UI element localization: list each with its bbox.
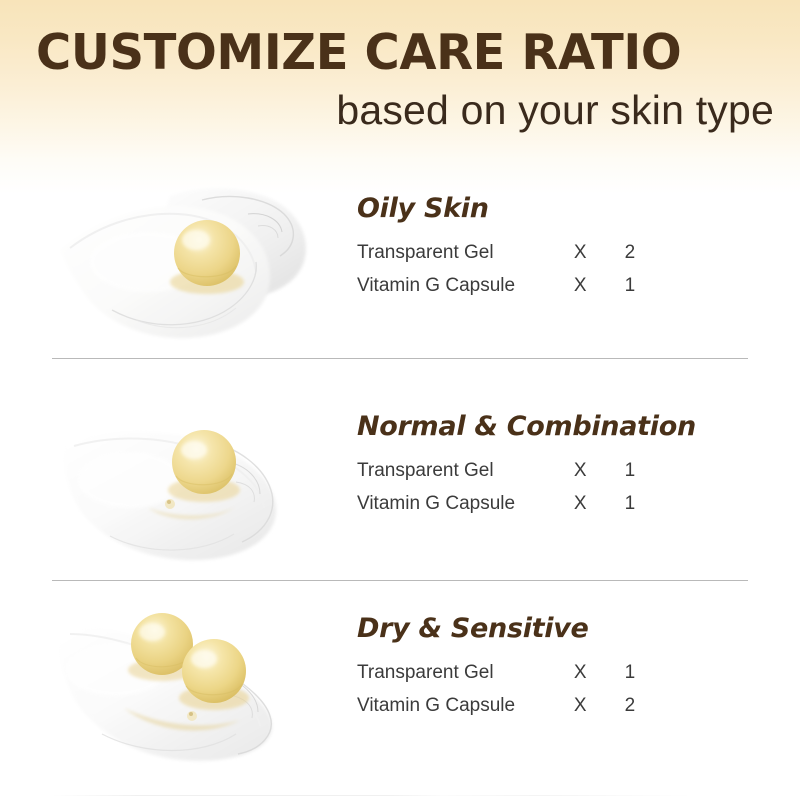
ratio-item-label: Vitamin G Capsule	[357, 689, 574, 723]
section-divider	[52, 358, 748, 359]
skin-type-heading: Dry & Sensitive	[357, 614, 757, 644]
ratio-item-label: Transparent Gel	[357, 236, 574, 270]
section-divider	[52, 580, 748, 581]
ratio-times-symbol: X	[574, 487, 625, 521]
skin-type-info-oily: Oily Skin Transparent Gel X 2 Vitamin G …	[357, 194, 757, 303]
header-banner: CUSTOMIZE CARE RATIO based on your skin …	[0, 0, 800, 200]
table-row: Vitamin G Capsule X 1	[357, 269, 667, 303]
skin-type-heading: Oily Skin	[357, 194, 757, 224]
ratio-quantity: 1	[625, 269, 667, 303]
skin-type-info-dry-sensitive: Dry & Sensitive Transparent Gel X 1 Vita…	[357, 614, 757, 723]
table-row: Transparent Gel X 1	[357, 656, 667, 690]
ratio-quantity: 2	[625, 689, 667, 723]
table-row: Vitamin G Capsule X 1	[357, 487, 667, 521]
product-swatch-image-normal-combination	[52, 396, 337, 571]
ratio-quantity: 1	[625, 656, 667, 690]
ratio-item-label: Vitamin G Capsule	[357, 487, 574, 521]
product-swatch-image-oily	[52, 178, 337, 353]
ratio-table-normal-combination: Transparent Gel X 1 Vitamin G Capsule X …	[357, 454, 667, 521]
ratio-item-label: Transparent Gel	[357, 454, 574, 488]
ratio-table-oily: Transparent Gel X 2 Vitamin G Capsule X …	[357, 236, 667, 303]
ratio-times-symbol: X	[574, 236, 625, 270]
table-row: Transparent Gel X 2	[357, 236, 667, 270]
ratio-times-symbol: X	[574, 656, 625, 690]
ratio-quantity: 2	[625, 236, 667, 270]
ratio-item-label: Vitamin G Capsule	[357, 269, 574, 303]
ratio-times-symbol: X	[574, 269, 625, 303]
skin-type-section-normal-combination: Normal & Combination Transparent Gel X 1…	[0, 390, 800, 608]
ratio-item-label: Transparent Gel	[357, 656, 574, 690]
page-subtitle: based on your skin type	[336, 86, 774, 135]
skin-type-info-normal-combination: Normal & Combination Transparent Gel X 1…	[357, 412, 757, 521]
ratio-table-dry-sensitive: Transparent Gel X 1 Vitamin G Capsule X …	[357, 656, 667, 723]
ratio-times-symbol: X	[574, 689, 625, 723]
table-row: Transparent Gel X 1	[357, 454, 667, 488]
ratio-quantity: 1	[625, 454, 667, 488]
ratio-times-symbol: X	[574, 454, 625, 488]
page-title: CUSTOMIZE CARE RATIO	[36, 26, 681, 81]
bottom-partial-divider	[52, 795, 748, 796]
ratio-quantity: 1	[625, 487, 667, 521]
skin-type-section-dry-sensitive: Dry & Sensitive Transparent Gel X 1 Vita…	[0, 592, 800, 800]
skin-type-heading: Normal & Combination	[357, 412, 757, 442]
infographic-page: CUSTOMIZE CARE RATIO based on your skin …	[0, 0, 800, 800]
table-row: Vitamin G Capsule X 2	[357, 689, 667, 723]
product-swatch-image-dry-sensitive	[52, 598, 337, 773]
